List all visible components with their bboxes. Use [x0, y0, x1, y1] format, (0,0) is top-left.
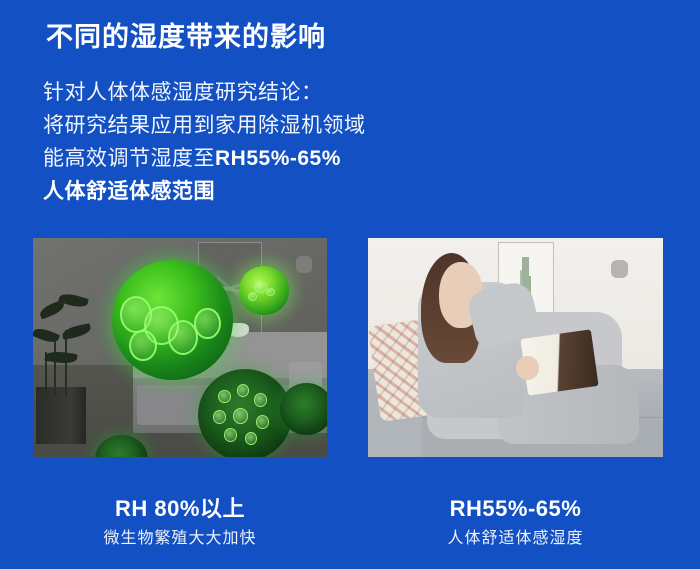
humidity-impact-slide: 不同的湿度带来的影响 针对人体体感湿度研究结论： 将研究结果应用到家用除湿机领域… [0, 0, 700, 569]
microbe-small-top [239, 266, 289, 314]
microbe-cell [237, 384, 249, 397]
body-line-3-prefix: 能高效调节湿度至 [43, 147, 215, 170]
microbe-cell [254, 281, 267, 294]
microbe-cell [129, 330, 157, 361]
dark-room-scene [33, 238, 327, 457]
microbe-large [112, 260, 233, 380]
microbe-cell [248, 292, 257, 301]
body-copy: 针对人体体感湿度研究结论： 将研究结果应用到家用除湿机领域 能高效调节湿度至RH… [43, 76, 503, 208]
photo-high-humidity [33, 238, 327, 457]
plant-stem [54, 339, 56, 396]
comparison-panels [0, 238, 700, 458]
page-title: 不同的湿度带来的影响 [46, 20, 326, 54]
body-line-2: 将研究结果应用到家用除湿机领域 [43, 109, 503, 142]
humidity-range-highlight: RH55%-65% [215, 147, 341, 170]
body-line-1: 针对人体体感湿度研究结论： [43, 76, 503, 109]
plant-pot [36, 387, 86, 444]
caption-sub-label: 人体舒适体感湿度 [368, 526, 663, 552]
microbe-cell [254, 393, 267, 407]
caption-high-humidity: RH 80%以上 微生物繁殖大大加快 [33, 494, 327, 552]
caption-sub-label: 微生物繁殖大大加快 [33, 526, 327, 552]
wall-speaker-icon [611, 260, 628, 278]
microbe-cell [218, 390, 231, 404]
microbe-cell [233, 408, 248, 424]
microbe-large-bottom [198, 369, 292, 457]
caption-comfort-humidity: RH55%-65% 人体舒适体感湿度 [368, 494, 663, 552]
caption-main-label: RH 80%以上 [33, 494, 327, 524]
microbe-cell [266, 288, 275, 297]
microbe-cell [194, 308, 221, 339]
body-line-4: 人体舒适体感范围 [43, 175, 503, 208]
microbe-cell [224, 428, 237, 442]
microbe-cell [245, 432, 257, 445]
photo-comfort-humidity [368, 238, 663, 457]
light-room-scene [368, 238, 663, 457]
caption-main-label: RH55%-65% [368, 494, 663, 524]
microbe-cell [213, 410, 226, 424]
microbe-edge-right [280, 383, 327, 436]
body-line-3: 能高效调节湿度至RH55%-65% [43, 142, 503, 175]
wall-speaker-icon [296, 256, 312, 273]
microbe-cell [256, 415, 269, 429]
